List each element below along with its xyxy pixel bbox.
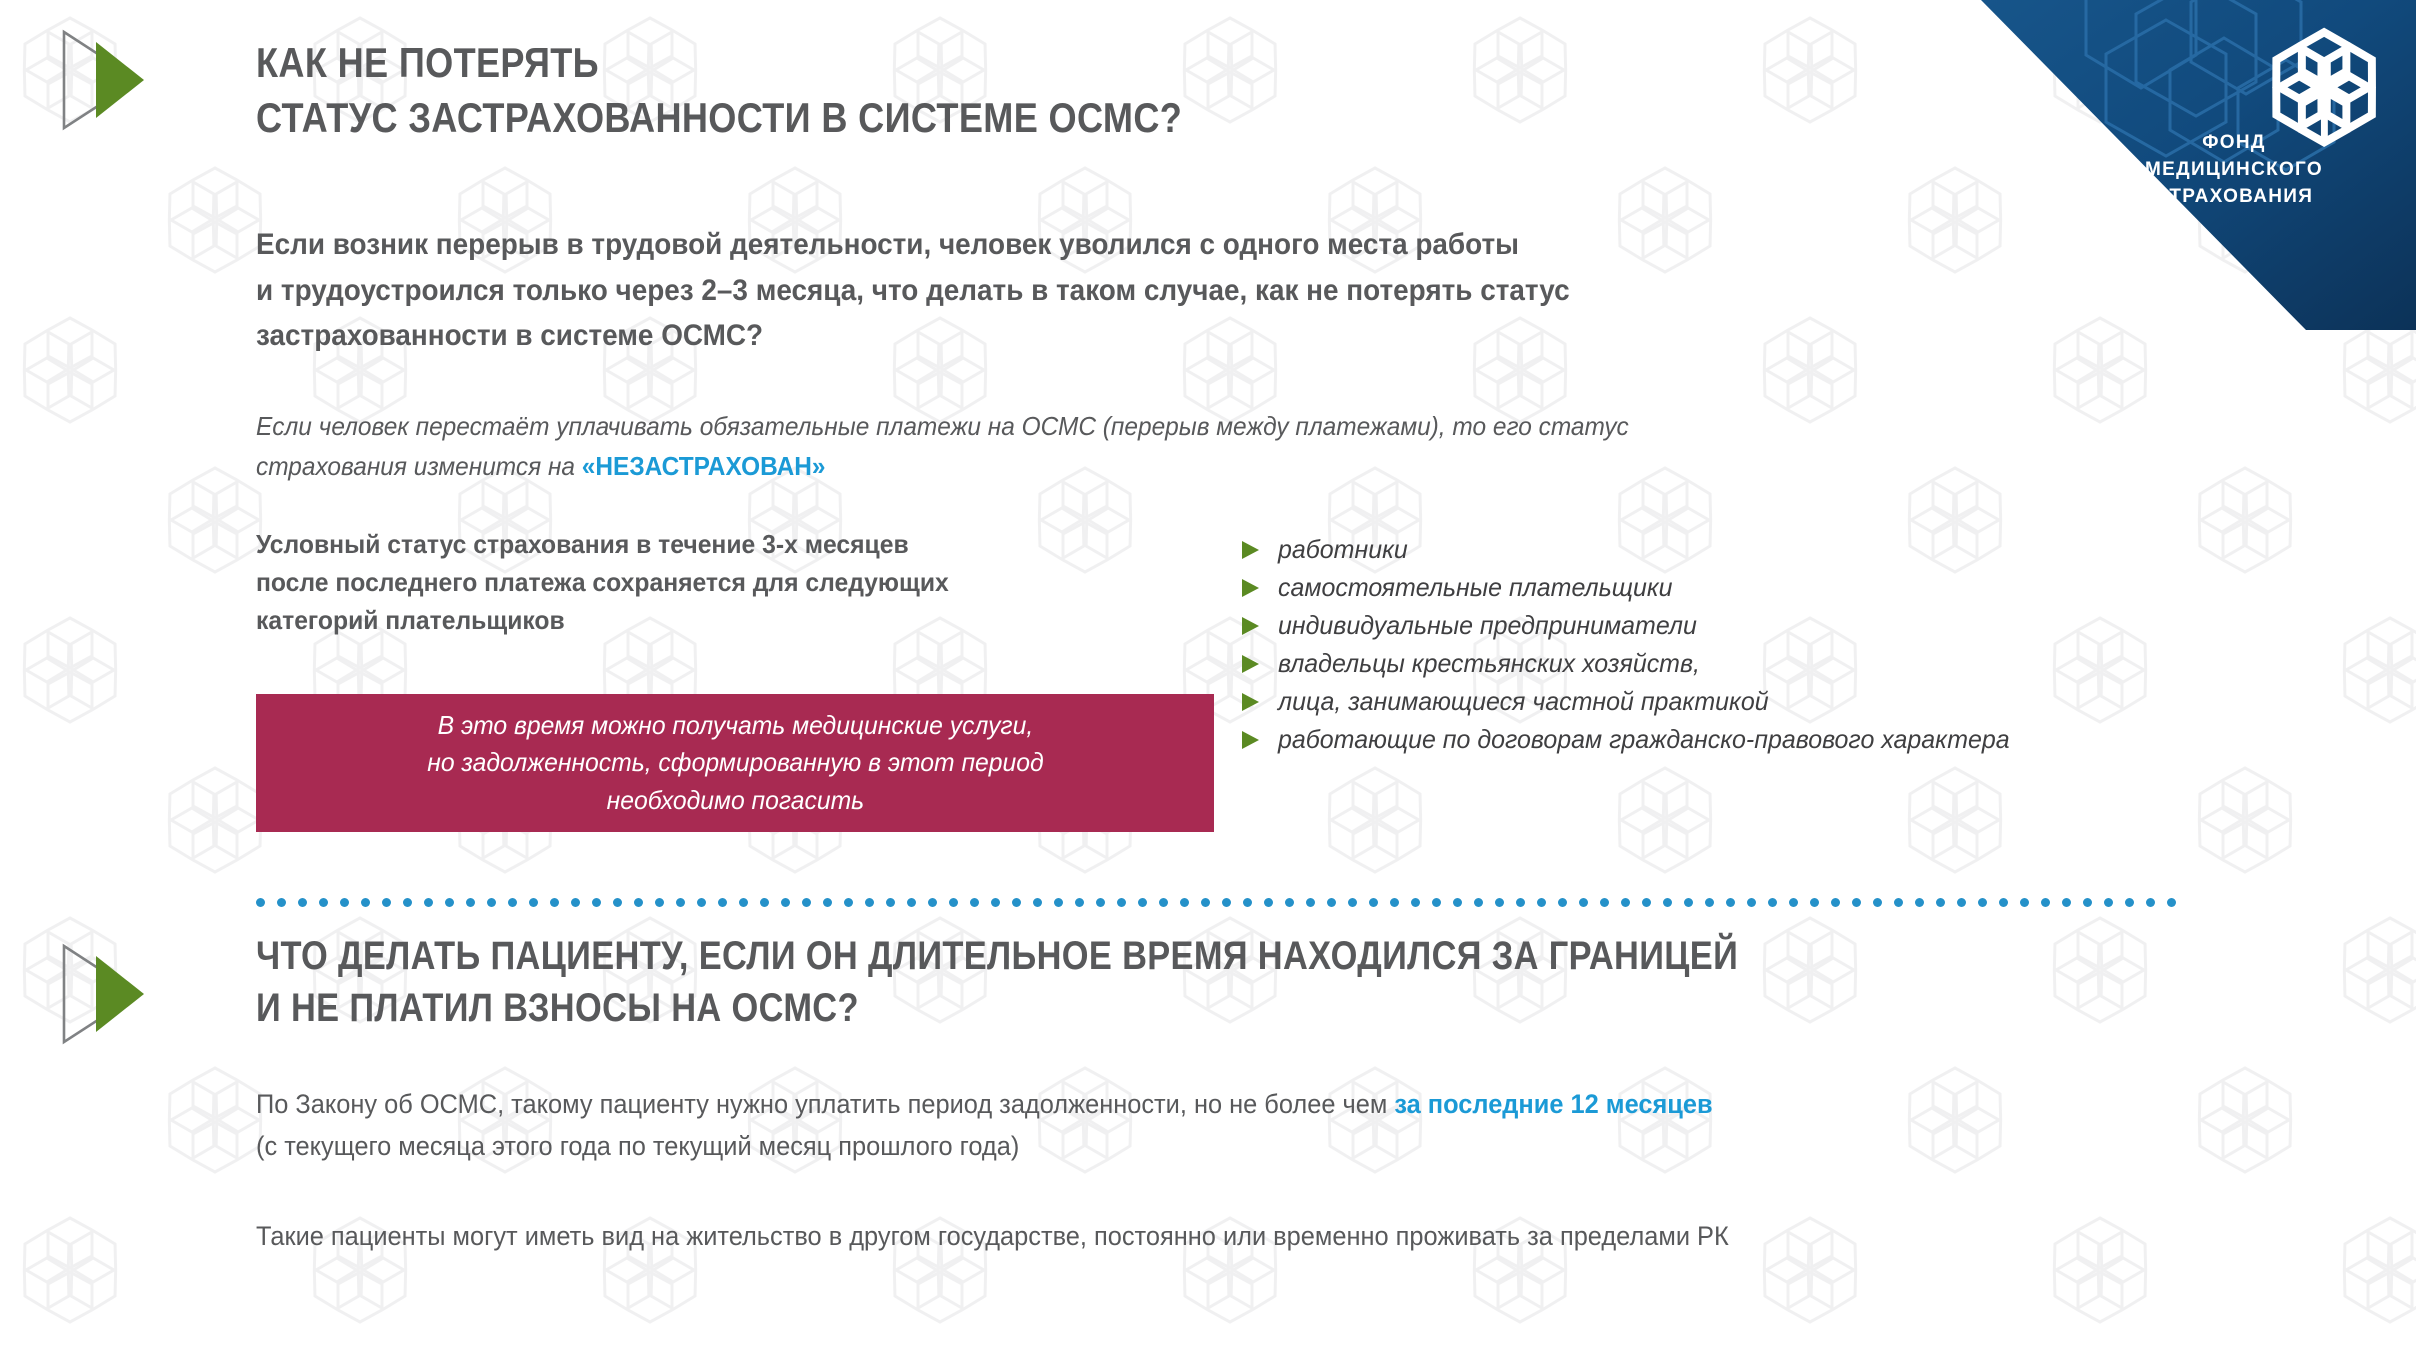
divider-dot [949,898,958,907]
divider-dot [1243,898,1252,907]
divider-dot [2125,898,2134,907]
section1-marker-icon [52,24,144,136]
list-item: владельцы крестьянских хозяйств, [1242,644,2402,682]
divider-dot [1033,898,1042,907]
divider-dot [2041,898,2050,907]
triangle-bullet-icon [1242,538,1262,560]
divider-dot [1915,898,1924,907]
payer-categories-list: работники самостоятельные плательщики ин… [1242,530,2402,758]
list-item: индивидуальные предприниматели [1242,606,2402,644]
divider-dot [1222,898,1231,907]
dotted-divider [256,898,2176,908]
divider-dot [991,898,1000,907]
divider-dot [1474,898,1483,907]
divider-dot [1453,898,1462,907]
divider-dot [403,898,412,907]
list-item: лица, занимающиеся частной практикой [1242,682,2402,720]
snowflake-emblem [2265,32,2383,142]
section1-italic-note: Если человек перестаёт уплачивать обязат… [256,406,1629,487]
section2-paragraph-1: По Закону об ОСМС, такому пациенту нужно… [256,1084,1713,1168]
section1-title-line-1: КАК НЕ ПОТЕРЯТЬ [256,36,1182,91]
triangle-bullet-icon [1242,614,1262,636]
divider-dot [1999,898,2008,907]
divider-dot [508,898,517,907]
payer-category-label: лица, занимающиеся частной практикой [1278,686,1769,717]
section1-subheading: Условный статус страхования в течение 3-… [256,526,949,640]
payer-category-label: самостоятельные плательщики [1278,572,1673,603]
divider-dot [487,898,496,907]
divider-dot [1432,898,1441,907]
divider-dot [2146,898,2155,907]
divider-dot [1537,898,1546,907]
divider-dot [1747,898,1756,907]
payer-category-label: работающие по договорам гражданско-право… [1278,724,2010,755]
divider-dot [529,898,538,907]
divider-dot [340,898,349,907]
divider-dot [655,898,664,907]
divider-dot [970,898,979,907]
divider-dot [1873,898,1882,907]
divider-dot [907,898,916,907]
divider-dot [1642,898,1651,907]
divider-dot [1684,898,1693,907]
divider-dot [277,898,286,907]
section2-marker-icon [52,938,144,1050]
section1-note-line-2-prefix: страхования изменится на [256,451,582,481]
list-item: работающие по договорам гражданско-право… [1242,720,2402,758]
triangle-bullet-icon [1242,690,1262,712]
debt-warning-callout: В это время можно получать медицинские у… [256,694,1214,832]
status-uninsured-highlight: «НЕЗАСТРАХОВАН» [582,451,826,481]
divider-dot [466,898,475,907]
divider-dot [676,898,685,907]
divider-dot [592,898,601,907]
divider-dot [2104,898,2113,907]
payer-category-label: индивидуальные предприниматели [1278,610,1697,641]
divider-dot [1075,898,1084,907]
fund-logo-panel: ФОНД МЕДИЦИНСКОГО СТРАХОВАНИЯ [1726,0,2416,330]
divider-dot [1705,898,1714,907]
section2-p1-line-1-prefix: По Закону об ОСМС, такому пациенту нужно… [256,1089,1394,1119]
divider-dot [886,898,895,907]
divider-dot [760,898,769,907]
divider-dot [1390,898,1399,907]
divider-dot [445,898,454,907]
divider-dot [1117,898,1126,907]
divider-dot [1831,898,1840,907]
divider-dot [1726,898,1735,907]
section1-note-line-2: страхования изменится на «НЕЗАСТРАХОВАН» [256,446,1629,486]
divider-dot [844,898,853,907]
divider-dot [1411,898,1420,907]
divider-dot [1495,898,1504,907]
section1-lead-line-1: Если возник перерыв в трудовой деятельно… [256,222,1570,268]
divider-dot [1894,898,1903,907]
divider-dot [1768,898,1777,907]
logo-wordmark: ФОНД МЕДИЦИНСКОГО СТРАХОВАНИЯ [2084,130,2384,211]
divider-dot [550,898,559,907]
divider-dot [739,898,748,907]
divider-dot [1810,898,1819,907]
divider-dot [928,898,937,907]
payer-category-label: владельцы крестьянских хозяйств, [1278,648,1700,679]
section1-lead-line-2: и трудоустроился только через 2–3 месяца… [256,268,1570,314]
divider-dot [382,898,391,907]
triangle-bullet-icon [1242,652,1262,674]
logo-panel-shape [1726,0,2416,330]
triangle-bullet-icon [1242,576,1262,598]
divider-dot [1789,898,1798,907]
divider-dot [1012,898,1021,907]
divider-dot [1369,898,1378,907]
divider-dot [1201,898,1210,907]
divider-dot [1663,898,1672,907]
divider-dot [1558,898,1567,907]
section1-title: КАК НЕ ПОТЕРЯТЬ СТАТУС ЗАСТРАХОВАННОСТИ … [256,36,1182,145]
divider-dot [298,898,307,907]
divider-dot [2062,898,2071,907]
divider-dot [718,898,727,907]
divider-dot [1957,898,1966,907]
divider-dot [781,898,790,907]
divider-dot [1285,898,1294,907]
divider-dot [361,898,370,907]
divider-dot [865,898,874,907]
divider-dot [613,898,622,907]
divider-dot [1348,898,1357,907]
logo-line-2: МЕДИЦИНСКОГО [2145,159,2323,180]
divider-dot [1054,898,1063,907]
last-12-months-highlight: за последние 12 месяцев [1394,1089,1712,1119]
section1-title-line-2: СТАТУС ЗАСТРАХОВАННОСТИ В СИСТЕМЕ ОСМС? [256,91,1182,146]
divider-dot [1600,898,1609,907]
divider-dot [2167,898,2176,907]
divider-dot [802,898,811,907]
divider-dot [571,898,580,907]
divider-dot [1852,898,1861,907]
callout-line-2: но задолженность, сформированную в этот … [427,744,1043,781]
section2-p1-line-2: (с текущего месяца этого года по текущий… [256,1126,1713,1168]
divider-dot [1579,898,1588,907]
payer-category-label: работники [1278,534,1408,565]
divider-dot [1327,898,1336,907]
section2-paragraph-2: Такие пациенты могут иметь вид на житель… [256,1216,1729,1258]
section1-lead-paragraph: Если возник перерыв в трудовой деятельно… [256,222,1570,359]
callout-line-3: необходимо погасить [427,782,1043,819]
divider-dot [823,898,832,907]
section2-title-line-1: ЧТО ДЕЛАТЬ ПАЦИЕНТУ, ЕСЛИ ОН ДЛИТЕЛЬНОЕ … [256,930,1738,982]
divider-dot [2020,898,2029,907]
section1-lead-line-3: застрахованности в системе ОСМС? [256,313,1570,359]
divider-dot [1180,898,1189,907]
section2-title-line-2: И НЕ ПЛАТИЛ ВЗНОСЫ НА ОСМС? [256,982,1738,1034]
triangle-bullet-icon [1242,728,1262,750]
logo-line-3: СТРАХОВАНИЯ [2155,186,2313,207]
divider-dot [424,898,433,907]
section2-title: ЧТО ДЕЛАТЬ ПАЦИЕНТУ, ЕСЛИ ОН ДЛИТЕЛЬНОЕ … [256,930,1738,1034]
section1-note-line-1: Если человек перестаёт уплачивать обязат… [256,406,1629,446]
divider-dot [319,898,328,907]
divider-dot [2083,898,2092,907]
section1-subheading-line-3: категорий плательщиков [256,602,949,640]
debt-warning-text: В это время можно получать медицинские у… [427,707,1043,819]
list-item: работники [1242,530,2402,568]
divider-dot [1264,898,1273,907]
section1-subheading-line-1: Условный статус страхования в течение 3-… [256,526,949,564]
callout-line-1: В это время можно получать медицинские у… [427,707,1043,744]
divider-dot [1096,898,1105,907]
section2-p2-line-1: Такие пациенты могут иметь вид на житель… [256,1216,1729,1258]
divider-dot [1936,898,1945,907]
divider-dot [1306,898,1315,907]
list-item: самостоятельные плательщики [1242,568,2402,606]
logo-line-1: ФОНД [2202,132,2265,153]
divider-dot [256,898,265,907]
divider-dot [1621,898,1630,907]
infographic-page: ФОНД МЕДИЦИНСКОГО СТРАХОВАНИЯ КАК НЕ ПОТ… [0,0,2416,1355]
divider-dot [634,898,643,907]
section2-p1-line-1: По Закону об ОСМС, такому пациенту нужно… [256,1084,1713,1126]
divider-dot [1159,898,1168,907]
divider-dot [1138,898,1147,907]
divider-dot [697,898,706,907]
divider-dot [1978,898,1987,907]
section1-subheading-line-2: после последнего платежа сохраняется для… [256,564,949,602]
divider-dot [1516,898,1525,907]
